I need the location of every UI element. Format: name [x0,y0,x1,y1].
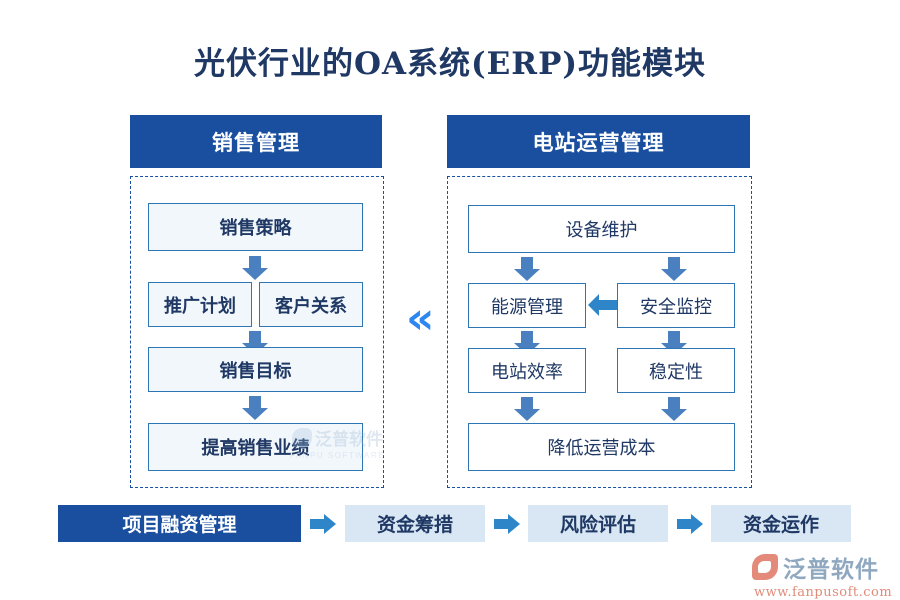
brand-logo: 泛普软件 www.fanpusoft.com [752,550,892,600]
column-header-plant-operations: 电站运营管理 [447,115,750,168]
brand-logo-icon [752,554,778,580]
node-equipment-maintenance[interactable]: 设备维护 [468,205,735,253]
arrow-right-icon [677,514,703,534]
brand-name: 泛普软件 [783,550,879,584]
bottom-node-risk-assessment[interactable]: 风险评估 [528,505,668,542]
arrow-down-icon [661,257,687,281]
chevron-left-icon: « [406,297,428,341]
node-safety-monitoring[interactable]: 安全监控 [617,283,735,328]
node-customer-relations[interactable]: 客户关系 [259,282,363,327]
arrow-down-icon [514,397,540,421]
column-header-sales: 销售管理 [130,115,382,168]
node-energy-management[interactable]: 能源管理 [468,283,586,328]
diagram-canvas: 光伏行业的OA系统(ERP)功能模块 销售管理 销售策略 推广计划 客户关系 销… [0,0,900,600]
arrow-down-icon [514,257,540,281]
arrow-right-icon [494,514,520,534]
brand-url: www.fanpusoft.com [754,585,892,600]
bottom-node-fund-operation[interactable]: 资金运作 [711,505,851,542]
arrow-right-icon [310,514,336,534]
bottom-node-project-financing[interactable]: 项目融资管理 [58,505,301,542]
node-improve-sales-performance[interactable]: 提高销售业绩 [148,423,363,471]
node-plant-efficiency[interactable]: 电站效率 [468,348,586,393]
arrow-down-icon [661,397,687,421]
bottom-node-fund-raising[interactable]: 资金筹措 [345,505,485,542]
node-sales-strategy[interactable]: 销售策略 [148,203,363,251]
arrow-down-icon [242,256,268,280]
arrow-down-icon [242,396,268,420]
page-title: 光伏行业的OA系统(ERP)功能模块 [0,38,900,83]
node-reduce-operating-cost[interactable]: 降低运营成本 [468,423,735,471]
node-sales-target[interactable]: 销售目标 [148,347,363,392]
node-stability[interactable]: 稳定性 [617,348,735,393]
node-promotion-plan[interactable]: 推广计划 [148,282,252,327]
